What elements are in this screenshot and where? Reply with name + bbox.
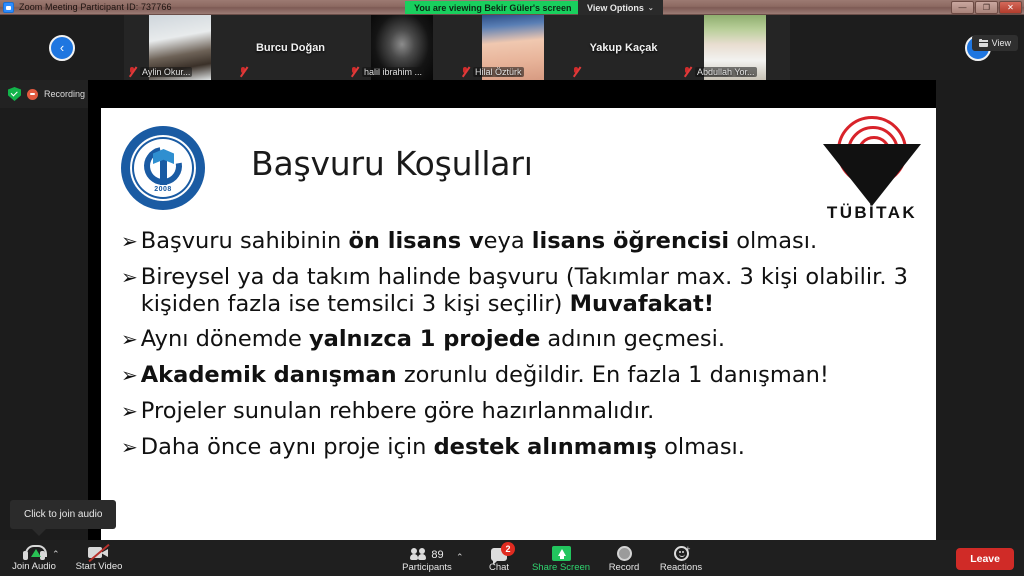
bullet-marker-icon: ➢ [121, 228, 138, 254]
shared-screen-region: 2008 Başvuru Koşulları TÜBİTAK [88, 80, 936, 540]
participants-count: 89 [431, 549, 443, 561]
participant-display-name: Burcu Doğan [256, 42, 325, 54]
window-controls[interactable]: — ❐ ✕ [951, 1, 1022, 14]
maximize-button[interactable]: ❐ [975, 1, 998, 14]
share-screen-button[interactable]: Share Screen [524, 544, 598, 573]
window-title: Zoom Meeting Participant ID: 737766 [19, 2, 172, 12]
participant-tile-footer: halil ibrahim ... [346, 66, 457, 78]
participant-tile[interactable]: Aylin Okur... [124, 15, 235, 80]
participant-tile-footer: Hilal Öztürk [457, 66, 568, 78]
audio-options-chevron-icon[interactable]: ⌃ [52, 549, 60, 560]
microphone-muted-icon [350, 66, 359, 78]
share-screen-label: Share Screen [532, 562, 590, 573]
recording-label: Recording [44, 89, 85, 99]
participant-tile-footer [235, 66, 346, 78]
shield-icon[interactable] [8, 87, 21, 101]
start-video-button[interactable]: Start Video [70, 543, 128, 572]
slide-bullet: ➢ Projeler sunulan rehbere göre hazırlan… [121, 398, 922, 425]
tubitak-wordmark: TÜBİTAK [818, 203, 926, 223]
slide-bullet: ➢ Başvuru sahibinin ön lisans veya lisan… [121, 228, 922, 255]
bullet-marker-icon: ➢ [121, 434, 138, 460]
participants-button[interactable]: 89 Participants [396, 544, 458, 573]
presentation-slide: 2008 Başvuru Koşulları TÜBİTAK [101, 108, 936, 540]
slide-bullet: ➢ Aynı dönemde yalnızca 1 projede adının… [121, 326, 922, 353]
bullet-marker-icon: ➢ [121, 264, 138, 290]
slide-bullet: ➢ Daha önce aynı proje için destek alınm… [121, 434, 922, 461]
logo-year: 2008 [154, 186, 172, 193]
view-layout-button[interactable]: View [972, 35, 1018, 51]
logo-stem [160, 159, 167, 185]
bullet-marker-icon: ➢ [121, 398, 138, 424]
chevron-left-icon[interactable]: ‹ [49, 35, 75, 61]
microphone-muted-icon [572, 66, 581, 78]
microphone-muted-icon [683, 66, 692, 78]
participant-tile-footer [568, 66, 679, 78]
tubitak-logo: TÜBİTAK [818, 116, 926, 224]
start-video-label: Start Video [76, 561, 123, 572]
join-audio-tooltip: Click to join audio [10, 500, 116, 529]
zoom-meeting-window: Zoom Meeting Participant ID: 737766 — ❐ … [0, 0, 1024, 576]
record-button[interactable]: Record [600, 544, 648, 573]
participants-icon: 89 [410, 544, 443, 561]
participant-name: halil ibrahim ... [362, 67, 424, 77]
participant-name: Abdullah Yor... [695, 67, 757, 77]
microphone-muted-icon [239, 66, 248, 78]
participant-name: Hilal Öztürk [473, 67, 524, 77]
slide-bullet-list: ➢ Başvuru sahibinin ön lisans veya lisan… [121, 228, 922, 469]
minimize-button[interactable]: — [951, 1, 974, 14]
participant-tile[interactable]: Burcu Doğan [235, 15, 346, 80]
meeting-status-bar: Recording [0, 80, 88, 108]
bullet-marker-icon: ➢ [121, 362, 138, 388]
participant-tile-footer: Abdullah Yor... [679, 66, 790, 78]
microphone-muted-icon [128, 66, 137, 78]
microphone-muted-icon [461, 66, 470, 78]
bartin-logo-mark: 2008 [140, 145, 186, 191]
zoom-icon [3, 2, 14, 13]
tubitak-triangle [823, 144, 921, 206]
slide-bullet: ➢ Akademik danışman zorunlu değildir. En… [121, 362, 922, 389]
share-screen-icon [552, 544, 571, 561]
reactions-label: Reactions [660, 562, 702, 573]
chat-unread-badge: 2 [501, 542, 515, 556]
slide-title: Başvuru Koşulları [251, 144, 533, 183]
recording-icon[interactable] [27, 89, 38, 100]
participant-tile[interactable]: halil ibrahim ... [346, 15, 457, 80]
screen-share-banner: You are viewing Bekir Güler's screen [405, 1, 581, 14]
participant-tile[interactable]: Hilal Öztürk [457, 15, 568, 80]
bullet-text: Daha önce aynı proje için destek alınmam… [141, 434, 922, 461]
participant-tile-footer: Aylin Okur... [124, 66, 235, 78]
leave-button[interactable]: Leave [956, 548, 1014, 570]
participants-chevron-icon[interactable]: ⌃ [456, 552, 464, 563]
chat-icon: 2 [491, 544, 507, 561]
view-options-label: View Options [587, 3, 644, 13]
reactions-icon: + [674, 544, 689, 561]
participant-tiles: Aylin Okur... Burcu Doğan halil ibrahim … [124, 15, 932, 80]
chat-button[interactable]: 2 Chat [478, 544, 520, 573]
chevron-down-icon: ⌄ [648, 4, 654, 12]
reactions-button[interactable]: + Reactions [652, 544, 710, 573]
bullet-text: Bireysel ya da takım halinde başvuru (Ta… [141, 264, 922, 318]
bullet-text: Başvuru sahibinin ön lisans veya lisans … [141, 228, 922, 255]
slide-header: 2008 Başvuru Koşulları TÜBİTAK [101, 108, 936, 226]
view-button-label: View [992, 38, 1011, 48]
bullet-text: Akademik danışman zorunlu değildir. En f… [141, 362, 922, 389]
bullet-marker-icon: ➢ [121, 326, 138, 352]
record-icon [617, 544, 632, 561]
bullet-text: Projeler sunulan rehbere göre hazırlanma… [141, 398, 922, 425]
join-audio-label: Join Audio [12, 561, 56, 572]
record-label: Record [609, 562, 640, 573]
participant-tile[interactable]: Yakup Kaçak [568, 15, 679, 80]
slide-bullet: ➢ Bireysel ya da takım halinde başvuru (… [121, 264, 922, 318]
filmstrip-prev-area[interactable]: ‹ [0, 15, 124, 80]
meeting-toolbar: Join Audio ⌃ Start Video 89 Participants… [0, 540, 1024, 576]
participant-display-name: Yakup Kaçak [590, 42, 658, 54]
headset-icon [23, 543, 45, 560]
participant-name: Aylin Okur... [140, 67, 192, 77]
participant-filmstrip: ‹ Aylin Okur... Burcu Doğan [0, 15, 1024, 80]
close-button[interactable]: ✕ [999, 1, 1022, 14]
grid-icon [979, 39, 988, 47]
view-options-button[interactable]: View Options ⌄ [578, 0, 663, 15]
chat-label: Chat [489, 562, 509, 573]
camera-off-icon [88, 543, 110, 560]
bartin-universitesi-logo: 2008 [121, 126, 205, 210]
participant-tile[interactable]: Abdullah Yor... [679, 15, 790, 80]
bullet-text: Aynı dönemde yalnızca 1 projede adının g… [141, 326, 922, 353]
participants-label: Participants [402, 562, 452, 573]
